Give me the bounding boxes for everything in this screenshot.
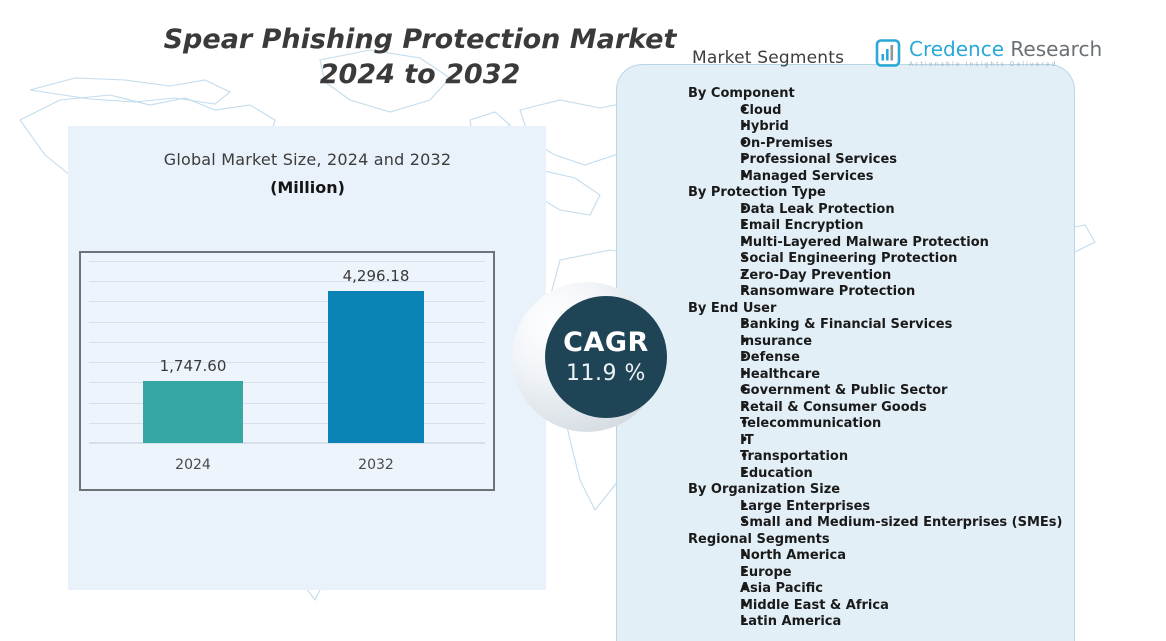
bullet-icon: • (688, 350, 740, 367)
logo-name-credence: Credence (909, 37, 1004, 61)
segment-list-item: •Insurance (688, 334, 1072, 351)
segment-item-label: Asia Pacific (740, 581, 823, 598)
segment-item-label: Transportation (740, 449, 848, 466)
logo-name-research: Research (1004, 37, 1102, 61)
bar-value-2032: 4,296.18 (343, 267, 410, 285)
bullet-icon: • (688, 400, 740, 417)
bullet-icon: • (688, 367, 740, 384)
chart-unit-label: (Million) (80, 178, 535, 197)
bullet-icon: • (688, 581, 740, 598)
segment-item-label: Healthcare (740, 367, 820, 384)
logo-text: Credence Research Actionable Insights De… (909, 39, 1102, 68)
segment-list-item: •Telecommunication (688, 416, 1072, 433)
segment-list-item: •Data Leak Protection (688, 202, 1072, 219)
segment-group-title: By Protection Type (688, 185, 1072, 202)
title-line-2: 2024 to 2032 (160, 57, 680, 92)
bullet-icon: • (688, 433, 740, 450)
segment-list-item: •Education (688, 466, 1072, 483)
title-line-1: Spear Phishing Protection Market (160, 22, 680, 57)
segment-list-item: •Hybrid (688, 119, 1072, 136)
segment-item-label: Professional Services (740, 152, 897, 169)
segment-list-item: •Middle East & Africa (688, 598, 1072, 615)
bullet-icon: • (688, 565, 740, 582)
segment-item-label: Defense (740, 350, 800, 367)
segment-list-item: •Managed Services (688, 169, 1072, 186)
segment-list-item: •Cloud (688, 103, 1072, 120)
segment-item-label: Europe (740, 565, 792, 582)
logo-name: Credence Research (909, 39, 1102, 59)
bullet-icon: • (688, 251, 740, 268)
segment-item-label: Managed Services (740, 169, 873, 186)
segment-list-item: •Email Encryption (688, 218, 1072, 235)
bullet-icon: • (688, 515, 740, 532)
segment-list-item: •Transportation (688, 449, 1072, 466)
bullet-icon: • (688, 284, 740, 301)
bar-group-2032: 4,296.18 (328, 267, 424, 443)
cagr-label: CAGR (563, 328, 649, 358)
segment-group-title: Regional Segments (688, 532, 1072, 549)
segment-list-item: •Europe (688, 565, 1072, 582)
cagr-badge: CAGR 11.9 % (545, 296, 667, 418)
logo-tagline: Actionable Insights Delivered (909, 62, 1102, 68)
segment-list-item: •Government & Public Sector (688, 383, 1072, 400)
segment-item-label: Hybrid (740, 119, 789, 136)
segment-item-label: Social Engineering Protection (740, 251, 957, 268)
bullet-icon: • (688, 235, 740, 252)
segment-item-label: Small and Medium-sized Enterprises (SMEs… (740, 515, 1062, 532)
segment-list-item: •IT (688, 433, 1072, 450)
segment-list-item: •Banking & Financial Services (688, 317, 1072, 334)
segment-list-item: •Defense (688, 350, 1072, 367)
credence-research-logo: Credence Research Actionable Insights De… (874, 38, 1102, 68)
bullet-icon: • (688, 466, 740, 483)
segment-item-label: Government & Public Sector (740, 383, 947, 400)
segment-list-item: •Multi-Layered Malware Protection (688, 235, 1072, 252)
segment-list-item: •Retail & Consumer Goods (688, 400, 1072, 417)
bullet-icon: • (688, 103, 740, 120)
segment-item-label: North America (740, 548, 846, 565)
bar-2024 (143, 381, 243, 443)
cagr-value: 11.9 % (566, 361, 646, 387)
segment-item-label: Zero-Day Prevention (740, 268, 891, 285)
segment-item-label: Large Enterprises (740, 499, 870, 516)
bullet-icon: • (688, 416, 740, 433)
bullet-icon: • (688, 169, 740, 186)
bullet-icon: • (688, 548, 740, 565)
segment-item-label: Banking & Financial Services (740, 317, 952, 334)
bar-chart: 1,747.60 4,296.18 2024 2032 (79, 251, 495, 491)
segment-list-item: •On-Premises (688, 136, 1072, 153)
segment-item-label: Education (740, 466, 813, 483)
page-title: Spear Phishing Protection Market 2024 to… (160, 22, 680, 92)
segment-list-item: •Healthcare (688, 367, 1072, 384)
segment-item-label: Telecommunication (740, 416, 881, 433)
segment-list-item: •Zero-Day Prevention (688, 268, 1072, 285)
bullet-icon: • (688, 598, 740, 615)
bullet-icon: • (688, 317, 740, 334)
bar-group-2024: 1,747.60 (143, 357, 243, 443)
segment-list-item: •Ransomware Protection (688, 284, 1072, 301)
segment-group-title: By Component (688, 86, 1072, 103)
bullet-icon: • (688, 202, 740, 219)
market-segments-title: Market Segments (692, 48, 844, 68)
x-tick-2032: 2032 (328, 457, 424, 473)
segment-item-label: Ransomware Protection (740, 284, 915, 301)
bar-value-2024: 1,747.60 (160, 357, 227, 375)
segment-list-item: •Professional Services (688, 152, 1072, 169)
segment-item-label: Data Leak Protection (740, 202, 895, 219)
segment-item-label: IT (740, 433, 754, 450)
segment-list-item: •Large Enterprises (688, 499, 1072, 516)
bullet-icon: • (688, 383, 740, 400)
bullet-icon: • (688, 499, 740, 516)
segment-item-label: Insurance (740, 334, 812, 351)
bullet-icon: • (688, 119, 740, 136)
bullet-icon: • (688, 614, 740, 631)
bar-chart-logo-icon (874, 39, 902, 67)
segment-list-item: •Social Engineering Protection (688, 251, 1072, 268)
segment-item-label: Multi-Layered Malware Protection (740, 235, 989, 252)
segment-item-label: Retail & Consumer Goods (740, 400, 927, 417)
segment-list-item: •Small and Medium-sized Enterprises (SME… (688, 515, 1072, 532)
segment-item-label: Cloud (740, 103, 782, 120)
bullet-icon: • (688, 268, 740, 285)
segment-group-title: By End User (688, 301, 1072, 318)
market-segments-list: By Component•Cloud•Hybrid•On-Premises•Pr… (688, 86, 1072, 631)
bar-2032 (328, 291, 424, 443)
segment-list-item: •Asia Pacific (688, 581, 1072, 598)
bullet-icon: • (688, 334, 740, 351)
segment-item-label: Email Encryption (740, 218, 864, 235)
segment-item-label: Latin America (740, 614, 841, 631)
chart-plot-area: 1,747.60 4,296.18 2024 2032 (81, 253, 493, 489)
segment-list-item: •Latin America (688, 614, 1072, 631)
segment-list-item: •North America (688, 548, 1072, 565)
bullet-icon: • (688, 449, 740, 466)
segment-item-label: On-Premises (740, 136, 833, 153)
bullet-icon: • (688, 218, 740, 235)
chart-subtitle: Global Market Size, 2024 and 2032 (80, 150, 535, 169)
bullet-icon: • (688, 136, 740, 153)
segment-item-label: Middle East & Africa (740, 598, 889, 615)
x-tick-2024: 2024 (143, 457, 243, 473)
bullet-icon: • (688, 152, 740, 169)
segment-group-title: By Organization Size (688, 482, 1072, 499)
chart-heading: Global Market Size, 2024 and 2032 (Milli… (80, 150, 535, 197)
